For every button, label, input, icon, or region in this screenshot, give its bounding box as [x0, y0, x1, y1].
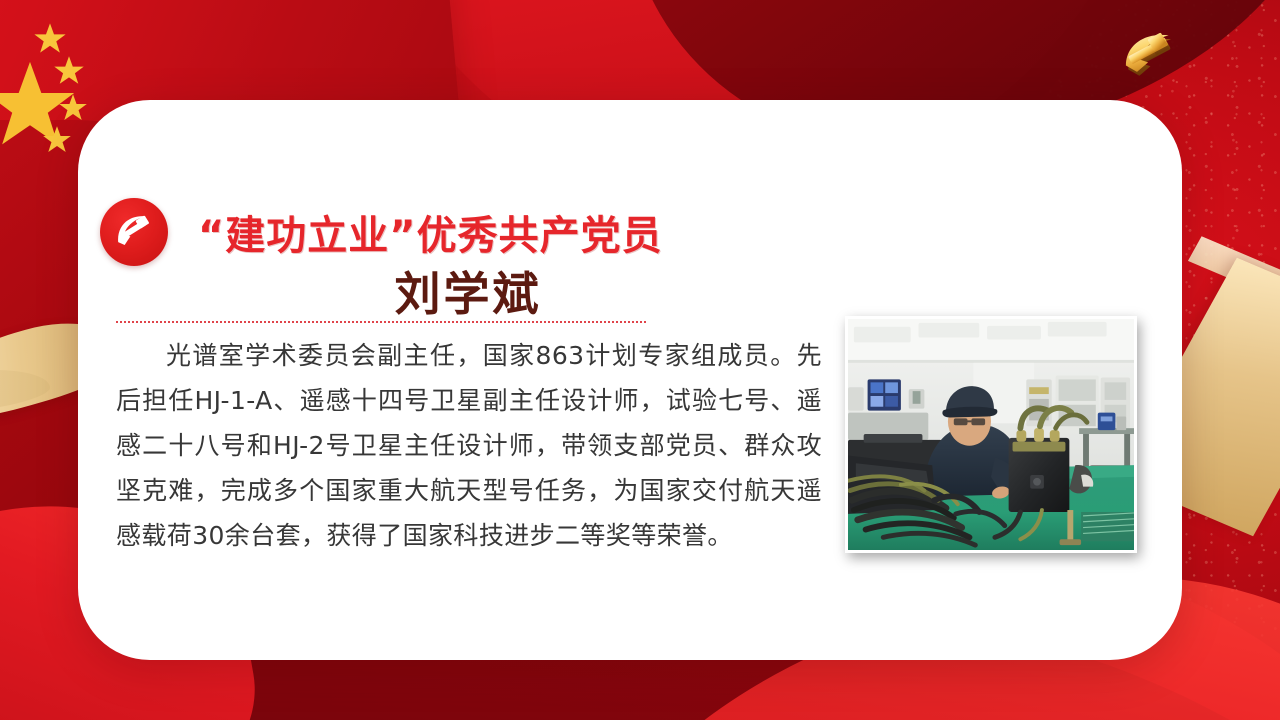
dotted-divider [116, 321, 646, 323]
flag-star-small-1-icon [33, 22, 67, 56]
biography-text: 光谱室学术委员会副主任，国家863计划专家组成员。先后担任HJ-1-A、遥感十四… [116, 333, 822, 558]
hammer-and-sickle-red-badge-icon [100, 198, 168, 266]
page-title: “建功立业”优秀共产党员 [198, 203, 738, 261]
flag-star-small-4-icon [42, 125, 72, 155]
flag-star-small-3-icon [58, 93, 88, 123]
hammer-and-sickle-gold-emblem-icon [1108, 18, 1204, 94]
slide-root: “建功立业”优秀共产党员 刘学斌 光谱室学术委员会副主任，国家863计划专家组成… [0, 0, 1280, 720]
portrait-photo [845, 316, 1137, 553]
person-name: 刘学斌 [198, 258, 738, 324]
flag-star-small-2-icon [53, 55, 85, 87]
